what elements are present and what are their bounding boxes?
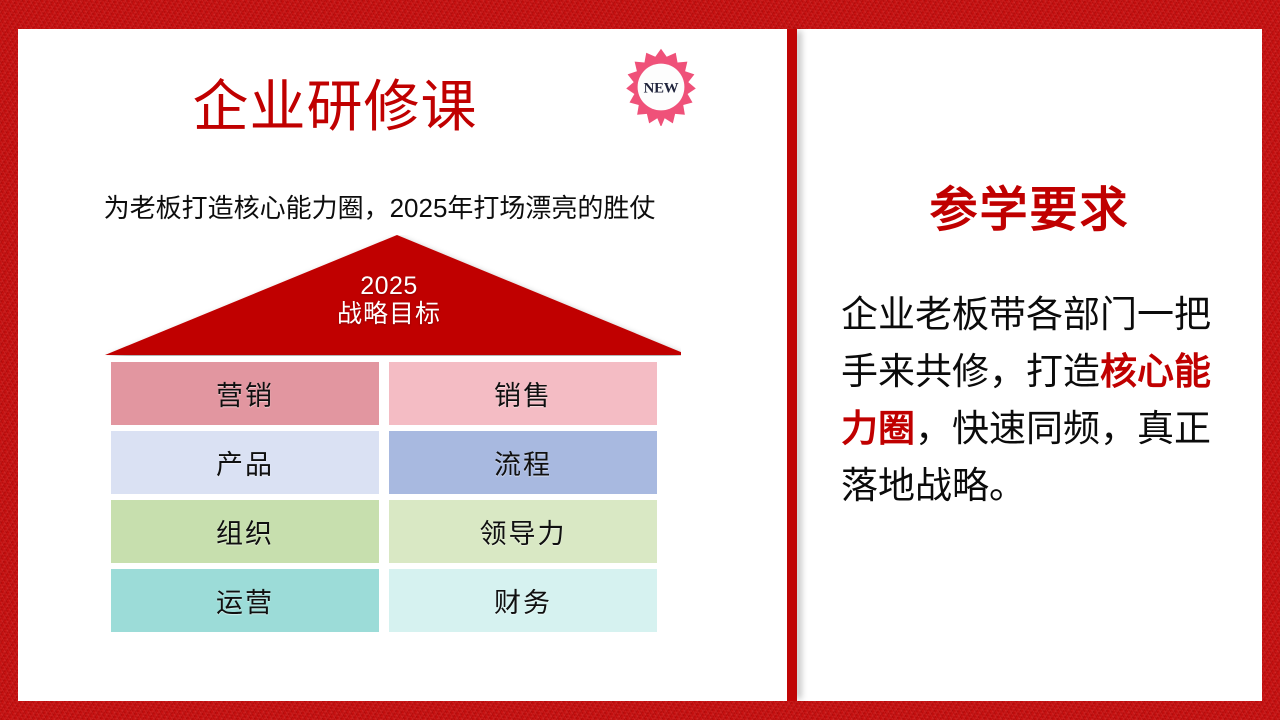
panel-divider [787,29,797,701]
house-brick-grid: 营销 销售 产品 流程 组织 领导力 运营 财务 [111,362,657,632]
brick-cell[interactable]: 组织 [111,500,379,563]
brick-label: 流程 [494,443,552,482]
left-panel: 企业研修课 为老板打造核心能力圈，2025年打场漂亮的胜仗 NEW [18,29,787,701]
brick-label: 营销 [216,374,274,413]
brick-label: 销售 [494,374,552,413]
requirements-body: 企业老板带各部门一把手来共修，打造核心能力圈，快速同频，真正落地战略。 [841,287,1236,515]
brick-label: 组织 [216,512,274,551]
brick-cell[interactable]: 运营 [111,569,379,632]
brick-cell[interactable]: 营销 [111,362,379,425]
brick-label: 领导力 [480,512,567,551]
brick-label: 财务 [494,581,552,620]
brick-cell[interactable]: 产品 [111,431,379,494]
brick-cell[interactable]: 领导力 [389,500,657,563]
brick-label: 运营 [216,581,274,620]
requirements-title: 参学要求 [797,187,1262,235]
house-roof-shape [97,235,681,356]
strategy-house-diagram: 2025 战略目标 营销 销售 产品 流程 组织 领导力 运营 财务 [18,29,787,701]
brick-cell[interactable]: 财务 [389,569,657,632]
right-panel: 参学要求 企业老板带各部门一把手来共修，打造核心能力圈，快速同频，真正落地战略。 [797,29,1262,701]
brick-cell[interactable]: 流程 [389,431,657,494]
brick-cell[interactable]: 销售 [389,362,657,425]
slide-content-area: 企业研修课 为老板打造核心能力圈，2025年打场漂亮的胜仗 NEW [18,29,1262,701]
brick-label: 产品 [216,443,274,482]
